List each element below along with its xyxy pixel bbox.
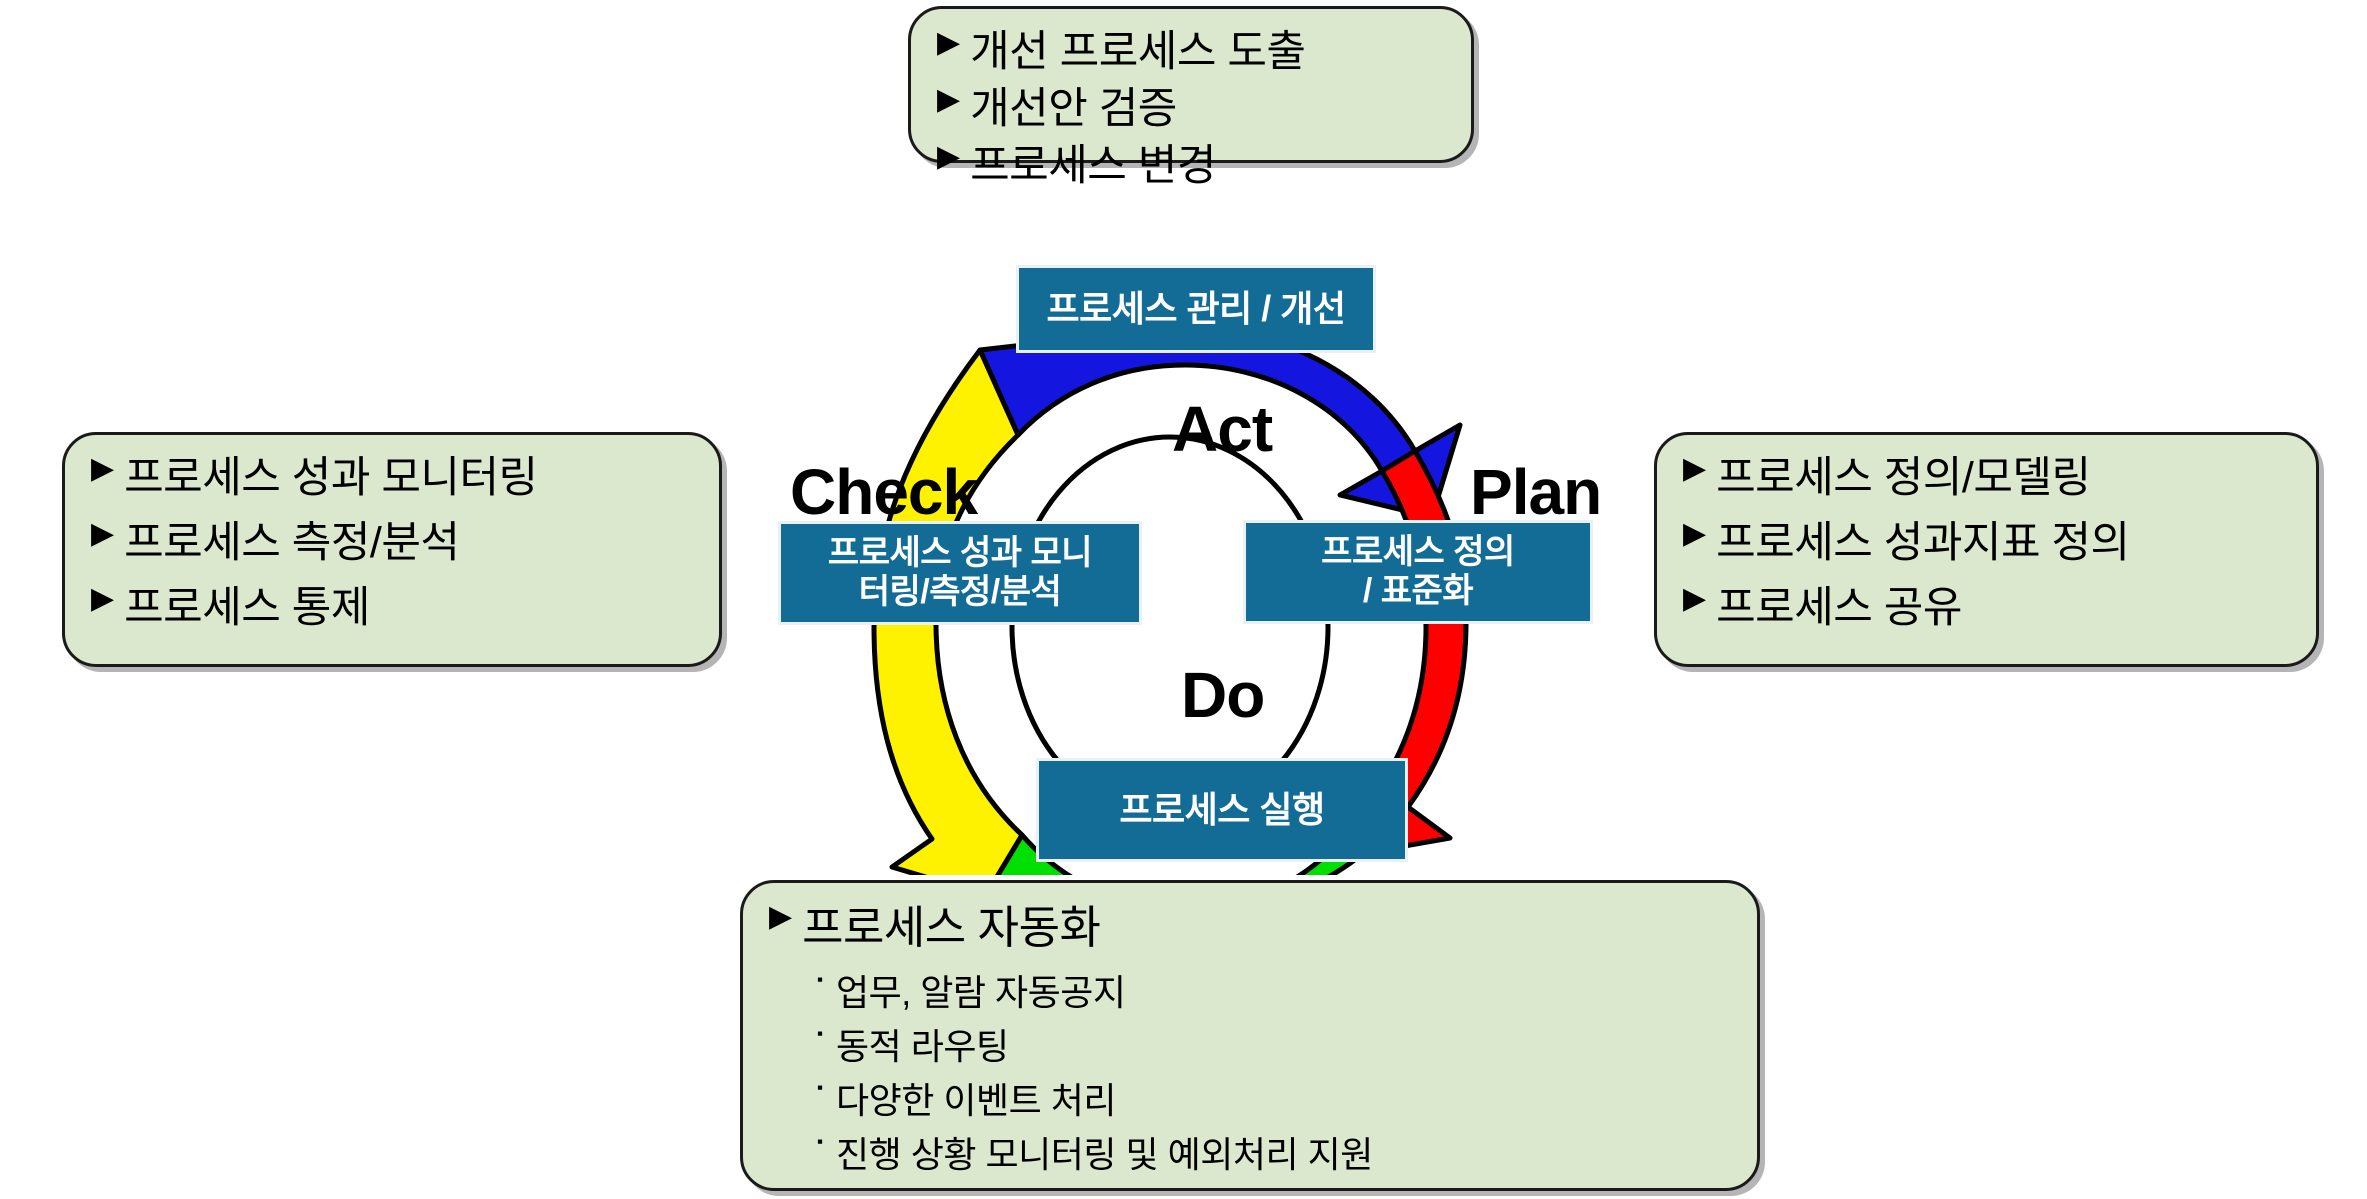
list-item: ▪ 진행 상황 모니터링 및 예외처리 지원 [817,1126,1731,1178]
square-bullet-icon: ▪ [817,1018,823,1050]
plate-do-label: 프로세스 실행 [1036,758,1408,862]
callout-do-sub-3: 진행 상황 모니터링 및 예외처리 지원 [836,1126,1373,1178]
plate-plan-line1: 프로세스 정의 [1321,533,1515,572]
diagram-canvas: Act Plan Do Check 프로세스 관리 / 개선 프로세스 정의 /… [0,0,2367,1199]
list-item: ▶ 개선안 검증 [937,82,1445,138]
list-item: ▪ 다양한 이벤트 처리 [817,1072,1731,1124]
list-item: ▶ 프로세스 통제 [91,581,693,637]
callout-plan-item-0: 프로세스 정의/모델링 [1716,451,2090,507]
pdca-word-act: Act [1172,392,1272,466]
callout-act-item-2: 프로세스 변경 [970,139,1216,195]
callout-plan-item-1: 프로세스 성과지표 정의 [1716,516,2130,572]
plate-check-line1: 프로세스 성과 모니 [828,534,1092,573]
list-item: ▶ 프로세스 측정/분석 [91,516,693,572]
list-item: ▪ 업무, 알람 자동공지 [817,964,1731,1016]
plate-act-label: 프로세스 관리 / 개선 [1016,265,1376,353]
callout-check: ▶ 프로세스 성과 모니터링 ▶ 프로세스 측정/분석 ▶ 프로세스 통제 [62,432,722,667]
triangle-bullet-icon: ▶ [769,899,792,936]
list-item: ▶ 프로세스 변경 [937,139,1445,195]
square-bullet-icon: ▪ [817,1072,823,1104]
triangle-bullet-icon: ▶ [1683,451,1706,488]
list-item: ▶ 프로세스 정의/모델링 [1683,451,2290,507]
list-item: ▶ 프로세스 공유 [1683,581,2290,637]
callout-do-sub-1: 동적 라우팅 [836,1018,1009,1070]
list-item: ▶ 프로세스 자동화 [769,899,1731,958]
callout-check-item-1: 프로세스 측정/분석 [124,516,459,572]
triangle-bullet-icon: ▶ [937,25,960,62]
pdca-word-do: Do [1181,658,1264,732]
callout-do-sub-0: 업무, 알람 자동공지 [836,964,1125,1016]
callout-plan: ▶ 프로세스 정의/모델링 ▶ 프로세스 성과지표 정의 ▶ 프로세스 공유 [1654,432,2319,667]
plate-check-line2: 터링/측정/분석 [828,573,1092,612]
triangle-bullet-icon: ▶ [937,82,960,119]
pdca-word-plan: Plan [1470,455,1601,529]
pdca-word-check: Check [790,455,977,529]
callout-do-main: 프로세스 자동화 [802,899,1100,958]
callout-plan-item-2: 프로세스 공유 [1716,581,1962,637]
square-bullet-icon: ▪ [817,1126,823,1158]
callout-act-item-0: 개선 프로세스 도출 [970,25,1305,81]
square-bullet-icon: ▪ [817,964,823,996]
plate-check-label: 프로세스 성과 모니 터링/측정/분석 [778,521,1142,625]
callout-check-item-0: 프로세스 성과 모니터링 [124,451,538,507]
callout-act: ▶ 개선 프로세스 도출 ▶ 개선안 검증 ▶ 프로세스 변경 [908,6,1474,163]
callout-check-item-2: 프로세스 통제 [124,581,370,637]
triangle-bullet-icon: ▶ [1683,516,1706,553]
triangle-bullet-icon: ▶ [1683,581,1706,618]
callout-act-item-1: 개선안 검증 [970,82,1177,138]
list-item: ▶ 프로세스 성과 모니터링 [91,451,693,507]
callout-do-sub-2: 다양한 이벤트 처리 [836,1072,1116,1124]
list-item: ▪ 동적 라우팅 [817,1018,1731,1070]
triangle-bullet-icon: ▶ [937,139,960,176]
triangle-bullet-icon: ▶ [91,581,114,618]
list-item: ▶ 프로세스 성과지표 정의 [1683,516,2290,572]
list-item: ▶ 개선 프로세스 도출 [937,25,1445,81]
triangle-bullet-icon: ▶ [91,451,114,488]
triangle-bullet-icon: ▶ [91,516,114,553]
plate-plan-line2: / 표준화 [1321,572,1515,611]
plate-plan-label: 프로세스 정의 / 표준화 [1243,520,1593,624]
callout-do: ▶ 프로세스 자동화 ▪ 업무, 알람 자동공지 ▪ 동적 라우팅 ▪ 다양한 … [740,880,1760,1191]
